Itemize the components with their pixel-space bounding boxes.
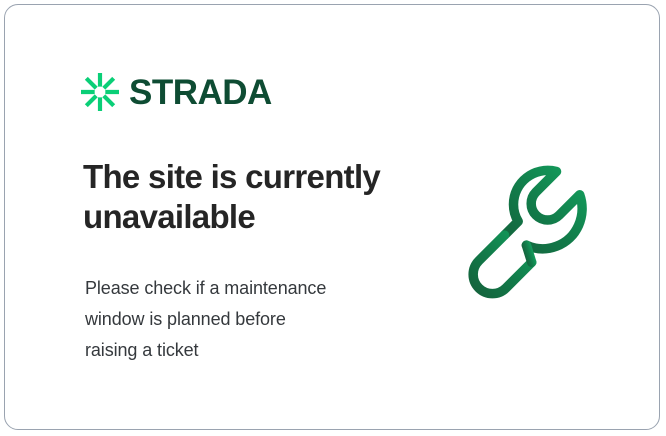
error-page-card: STRADA The site is currently unavailable… <box>4 4 660 430</box>
strada-asterisk-icon <box>81 73 119 111</box>
page-description: Please check if a maintenance window is … <box>85 273 395 366</box>
brand-wordmark: STRADA <box>129 75 272 110</box>
description-line: window is planned before <box>85 304 395 335</box>
description-line: raising a ticket <box>85 335 395 366</box>
page-title: The site is currently unavailable <box>83 157 413 236</box>
brand-lockup: STRADA <box>81 73 272 111</box>
description-line: Please check if a maintenance <box>85 273 395 304</box>
wrench-icon <box>460 157 620 317</box>
